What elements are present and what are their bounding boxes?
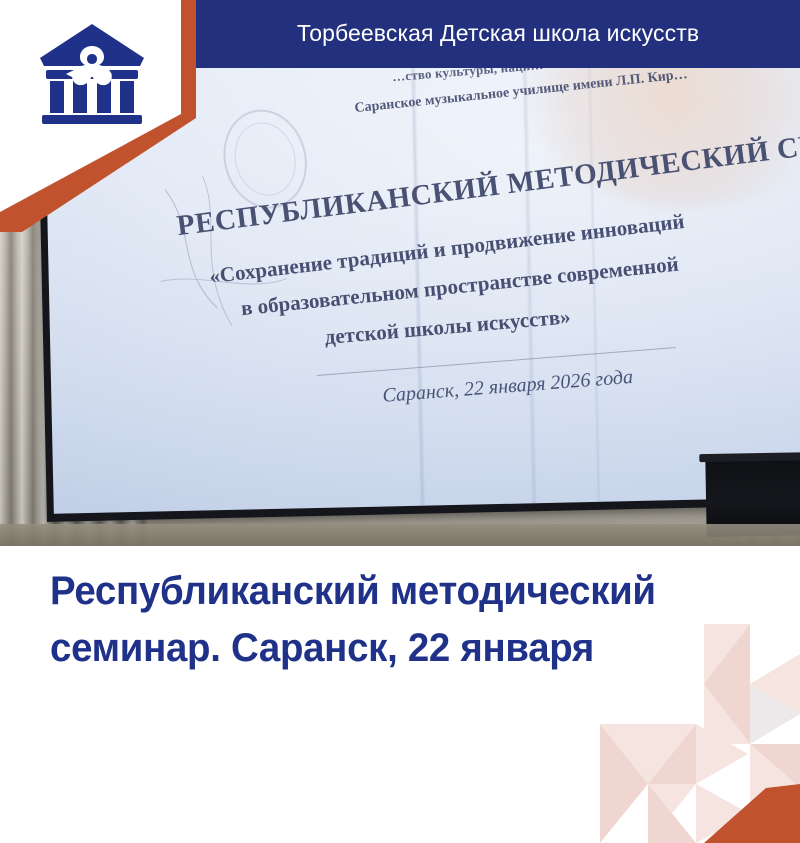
site-header-bar: Торбеевская Детская школа искусств <box>196 0 800 68</box>
hall-floor <box>0 524 800 546</box>
site-title: Торбеевская Детская школа искусств <box>297 21 699 46</box>
caption-panel: Республиканский методический семинар. Са… <box>0 546 800 843</box>
article-title: Республиканский методический семинар. Са… <box>50 563 722 677</box>
slide-subtitle-line-3: детской школы искусств» <box>324 304 572 350</box>
slide-heading: РЕСПУБЛИКАНСКИЙ МЕТОДИЧЕСКИЙ СЕМИНАР <box>175 115 800 244</box>
classical-building-columns-icon <box>36 22 148 126</box>
slide-date: Саранск, 22 января 2026 года <box>317 361 698 413</box>
news-card: …ство культуры, наци… Саранское музыкаль… <box>0 0 800 843</box>
